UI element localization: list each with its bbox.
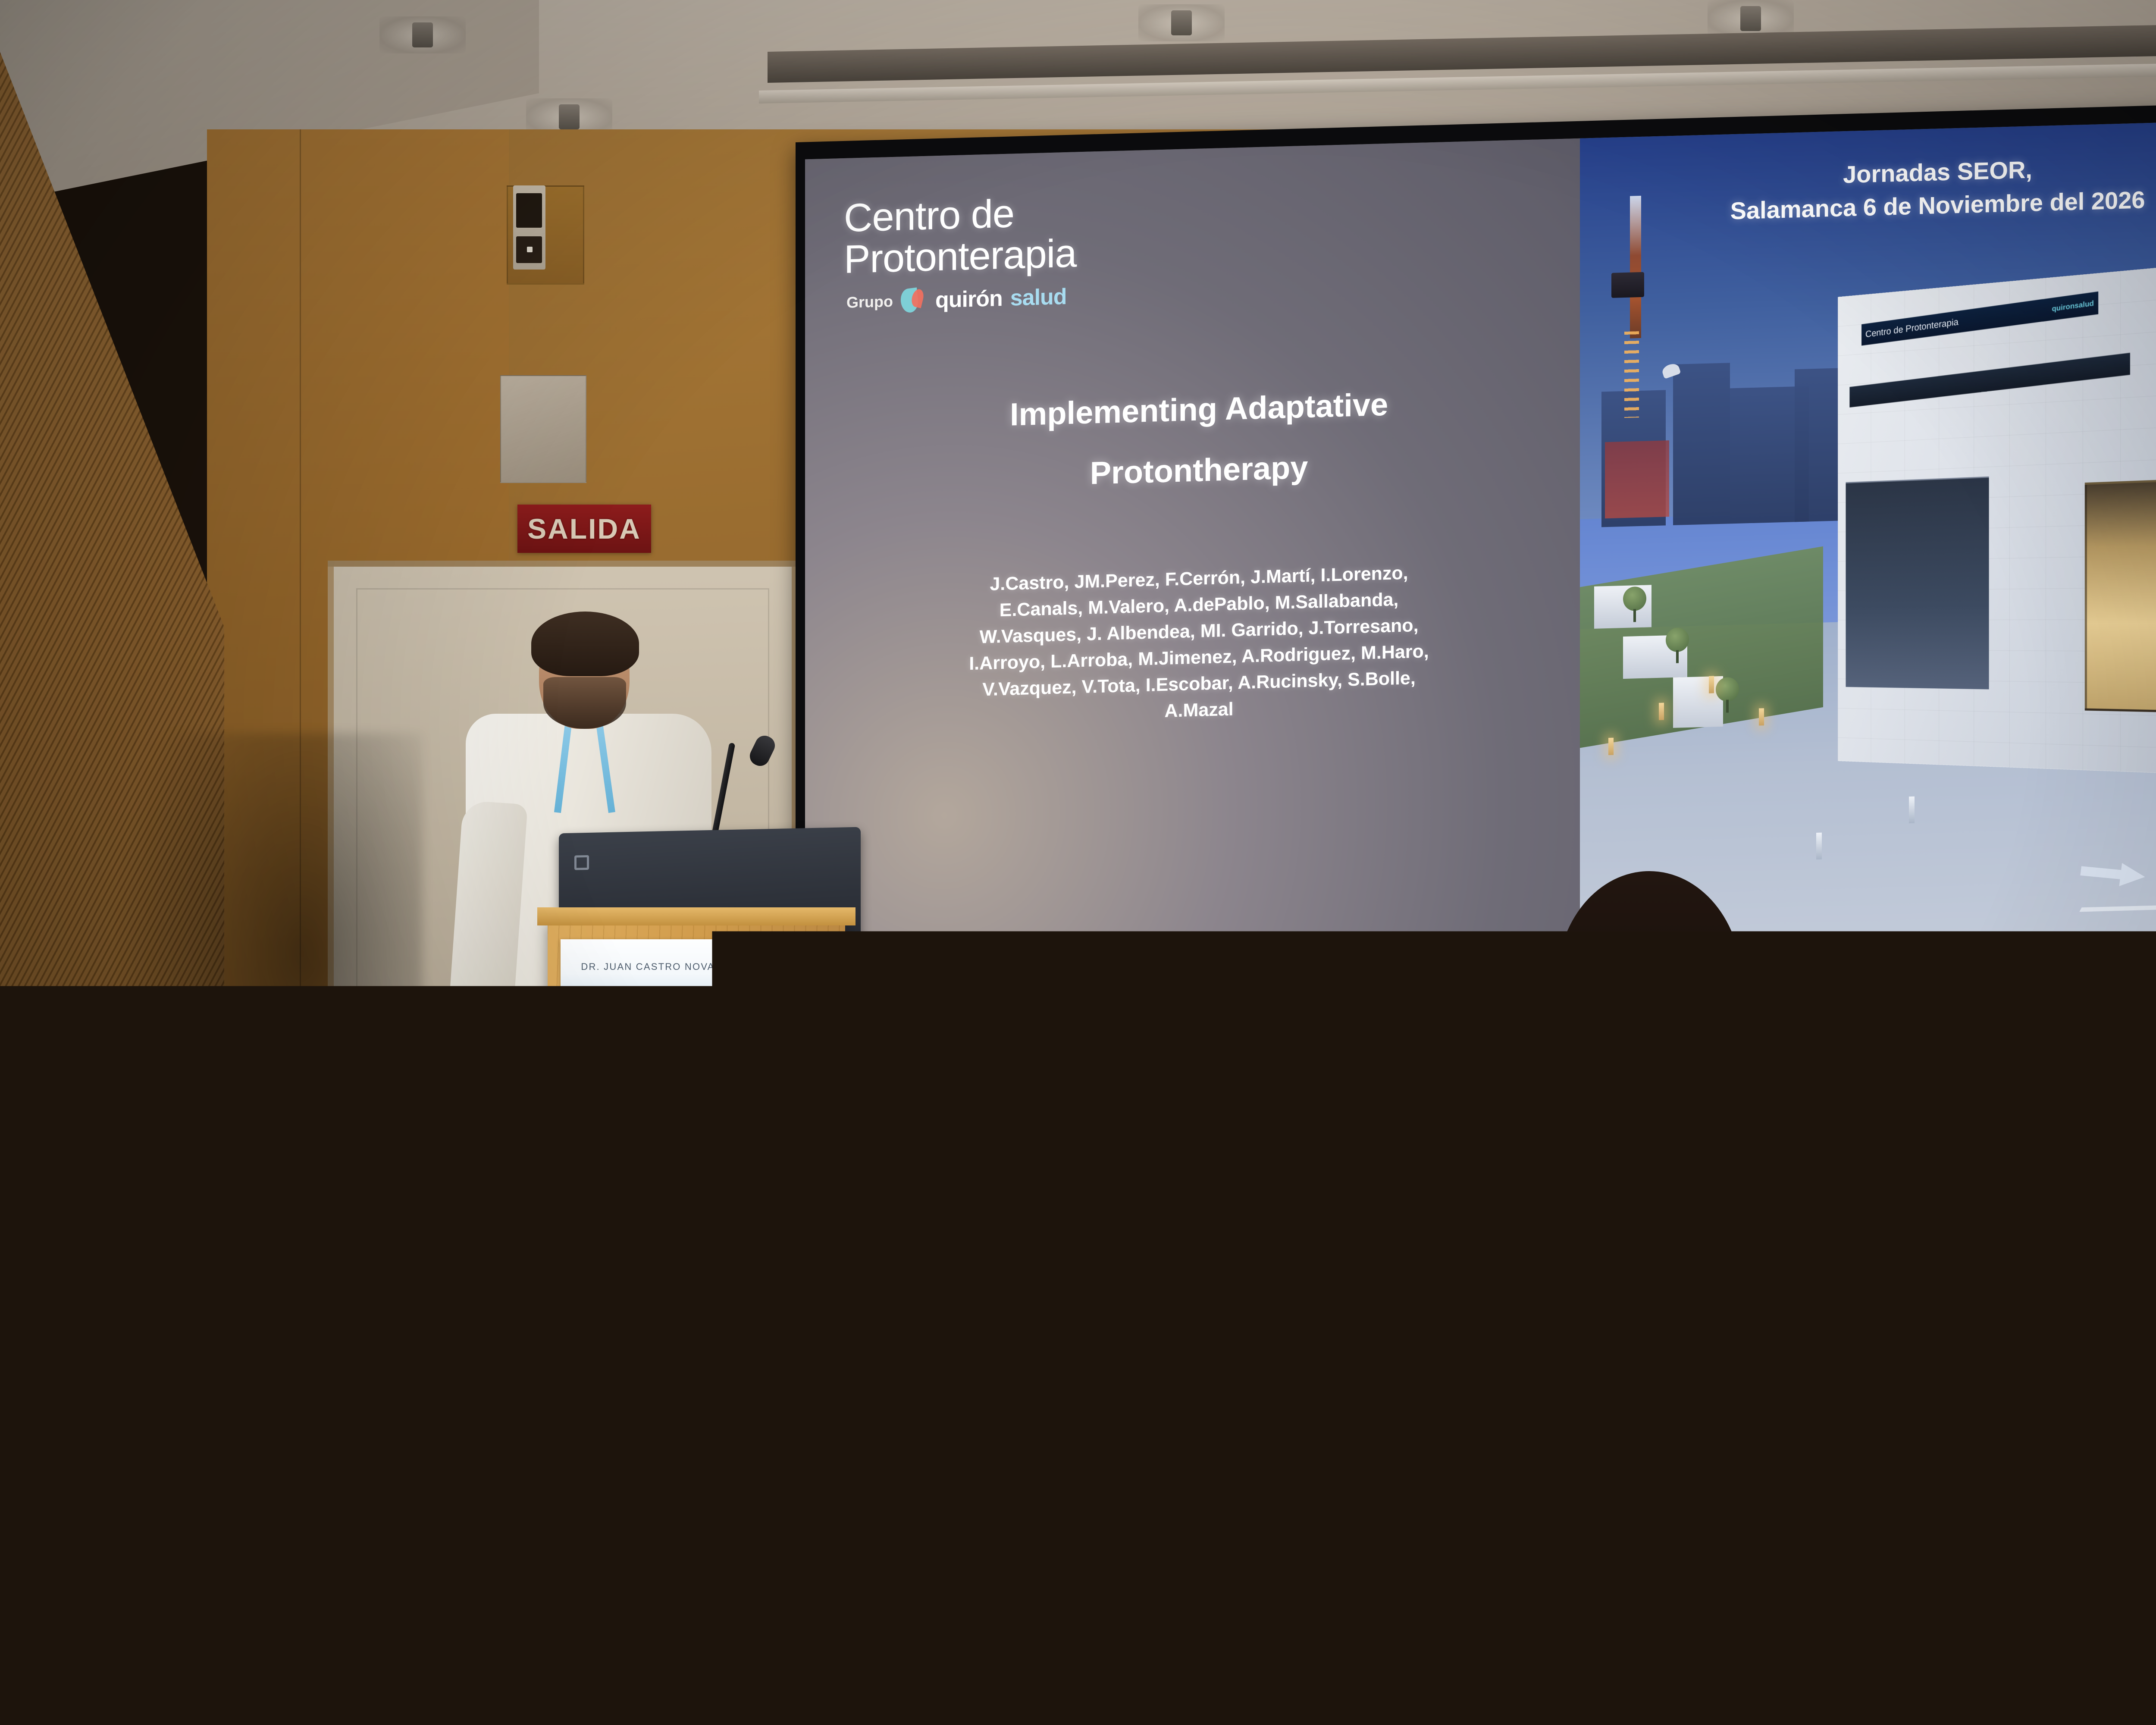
planter xyxy=(1673,676,1723,728)
ceiling-spotlight xyxy=(1708,0,1794,37)
slide-author-list: J.Castro, JM.Perez, F.Cerrón, J.Martí, I… xyxy=(844,556,1554,733)
panel-nameplate-left: DRA. CARMEN MARIA SERRANO CHICA xyxy=(1595,1126,1764,1164)
panelist-left-hair xyxy=(1557,871,1742,1095)
bollard xyxy=(1909,797,1915,823)
building-entrance xyxy=(2085,478,2156,713)
ceiling-spotlight xyxy=(379,16,466,53)
audience-head xyxy=(1190,1466,1406,1725)
laptop-logo-icon xyxy=(574,855,589,870)
exit-sign-label: SALIDA xyxy=(527,512,641,545)
panel-av-console[interactable] xyxy=(1781,1121,1871,1159)
city-building xyxy=(1673,363,1730,525)
panel-desk-lip xyxy=(1354,1170,2156,1174)
projected-slide: Centro de Protonterapia Grupo quirón sal… xyxy=(805,119,2156,1006)
logo-salud-text: salud xyxy=(1010,284,1067,311)
tower-lights xyxy=(1624,331,1639,418)
logo-group-label: Grupo xyxy=(846,292,893,312)
audience-head xyxy=(0,1483,216,1725)
ceiling-spotlight xyxy=(1138,4,1225,41)
exit-sign: SALIDA xyxy=(517,505,651,553)
leaf-icon xyxy=(901,288,928,314)
lectern-base xyxy=(535,1374,858,1397)
slide-title: Implementing Adaptative Protontherapy xyxy=(844,370,1554,511)
tower-head xyxy=(1611,272,1644,298)
wall-access-panel xyxy=(500,375,586,483)
panel-nameplate-left-label: DRA. CARMEN MARIA SERRANO CHICA xyxy=(1611,1142,1748,1149)
garden-lamp xyxy=(1709,676,1714,693)
tree xyxy=(1623,586,1646,611)
lectern-nameplate-label: DR. JUAN CASTRO NOVAIS xyxy=(581,961,725,972)
garden-lamp xyxy=(1759,709,1764,726)
bollard xyxy=(1816,833,1822,859)
audience-head xyxy=(1621,1423,1897,1725)
speaker-shadow xyxy=(121,733,423,1285)
water-bottle[interactable] xyxy=(2150,1087,2156,1151)
city-building-lit xyxy=(1605,440,1669,518)
garden-lamp xyxy=(1608,738,1614,755)
logo-quiron-text: quirón xyxy=(935,285,1003,313)
garden-lamp xyxy=(1659,703,1664,720)
conference-room-scene: SALIDA Centro de Protonterapia Grupo qui… xyxy=(0,0,2156,1725)
slide-left-panel: Centro de Protonterapia Grupo quirón sal… xyxy=(805,138,1580,1006)
wall-control-device[interactable] xyxy=(513,185,545,270)
building-sign-logo: quironsalud xyxy=(2052,299,2093,313)
slide-right-photo-panel: Centro de Protonterapia quironsalud Jorn… xyxy=(1580,119,2156,985)
eyeglasses-icon xyxy=(1594,939,1702,971)
projection-screen: Centro de Protonterapia Grupo quirón sal… xyxy=(796,101,2156,1057)
lectern: DR. JUAN CASTRO NOVAIS xyxy=(548,919,845,1384)
audience-head xyxy=(785,1427,1061,1725)
speaker-hair xyxy=(531,612,639,676)
speaker-beard xyxy=(543,677,626,729)
audience-head xyxy=(1397,1458,1621,1725)
speaker-hand xyxy=(487,1005,543,1044)
lectern-nameplate: DR. JUAN CASTRO NOVAIS xyxy=(561,939,746,994)
building-glass-facade xyxy=(1846,477,1989,689)
lectern-top-edge xyxy=(537,907,856,925)
protontherapy-building: Centro de Protonterapia quironsalud xyxy=(1838,257,2156,777)
speaker-lanyard xyxy=(556,720,612,819)
